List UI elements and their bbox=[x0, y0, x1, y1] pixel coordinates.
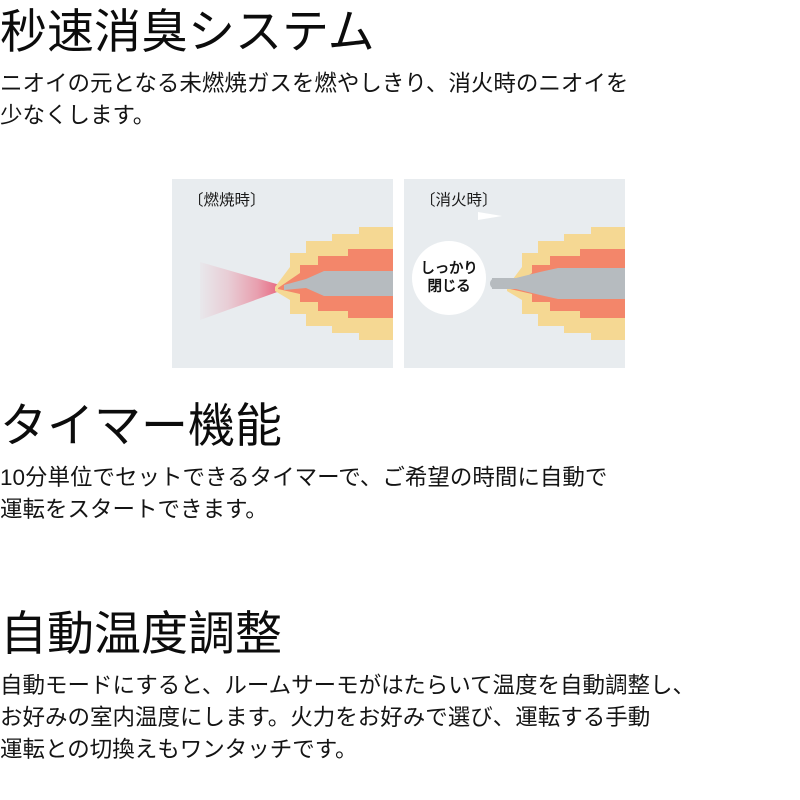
body-line: お好みの室内温度にします。火力をお好みで選び、運転する手動 bbox=[0, 702, 800, 734]
section-timer: タイマー機能 10分単位でセットできるタイマーで、ご希望の時間に自動で 運転をス… bbox=[0, 398, 800, 526]
section-body-auto-thermo: 自動モードにすると、ルームサーモがはたらいて温度を自動調整し、 お好みの室内温度… bbox=[0, 670, 800, 766]
diagram-panel-burning: 〔燃焼時〕 bbox=[172, 179, 393, 368]
callout-line: しっかり bbox=[420, 260, 477, 278]
diagram-panel-extinguished: 〔消火時〕 しっかり bbox=[404, 179, 625, 368]
body-line: 運転との切換えもワンタッチです。 bbox=[0, 734, 800, 766]
valve-needle-closed bbox=[490, 268, 625, 299]
section-auto-thermo: 自動温度調整 自動モードにすると、ルームサーモがはたらいて温度を自動調整し、 お… bbox=[0, 606, 800, 766]
body-line: 10分単位でセットできるタイマーで、ご希望の時間に自動で bbox=[0, 462, 800, 494]
section-heading-timer: タイマー機能 bbox=[0, 398, 800, 454]
panel-label-extinguished: 〔消火時〕 bbox=[420, 191, 498, 210]
section-heading-auto-thermo: 自動温度調整 bbox=[0, 606, 800, 662]
body-line: 少なくします。 bbox=[0, 100, 800, 132]
callout-tail-icon bbox=[478, 212, 502, 220]
product-feature-page: 秒速消臭システム ニオイの元となる未燃焼ガスを燃やしきり、消火時のニオイを 少な… bbox=[0, 0, 800, 800]
body-line: ニオイの元となる未燃焼ガスを燃やしきり、消火時のニオイを bbox=[0, 68, 800, 100]
flame-cone bbox=[200, 262, 280, 320]
section-body-deodorize: ニオイの元となる未燃焼ガスを燃やしきり、消火時のニオイを 少なくします。 bbox=[0, 68, 800, 132]
burner-diagram: 〔燃焼時〕 bbox=[172, 179, 625, 368]
section-body-timer: 10分単位でセットできるタイマーで、ご希望の時間に自動で 運転をスタートできます… bbox=[0, 462, 800, 526]
section-deodorize: 秒速消臭システム ニオイの元となる未燃焼ガスを燃やしきり、消火時のニオイを 少な… bbox=[0, 4, 800, 132]
panel-label-burning: 〔燃焼時〕 bbox=[188, 191, 266, 210]
callout-line: 閉じる bbox=[428, 278, 471, 296]
body-line: 運転をスタートできます。 bbox=[0, 494, 800, 526]
section-heading-deodorize: 秒速消臭システム bbox=[0, 4, 800, 60]
callout-bubble: しっかり 閉じる bbox=[412, 241, 486, 315]
body-line: 自動モードにすると、ルームサーモがはたらいて温度を自動調整し、 bbox=[0, 670, 800, 702]
callout-bubble-text: しっかり 閉じる bbox=[412, 241, 486, 315]
